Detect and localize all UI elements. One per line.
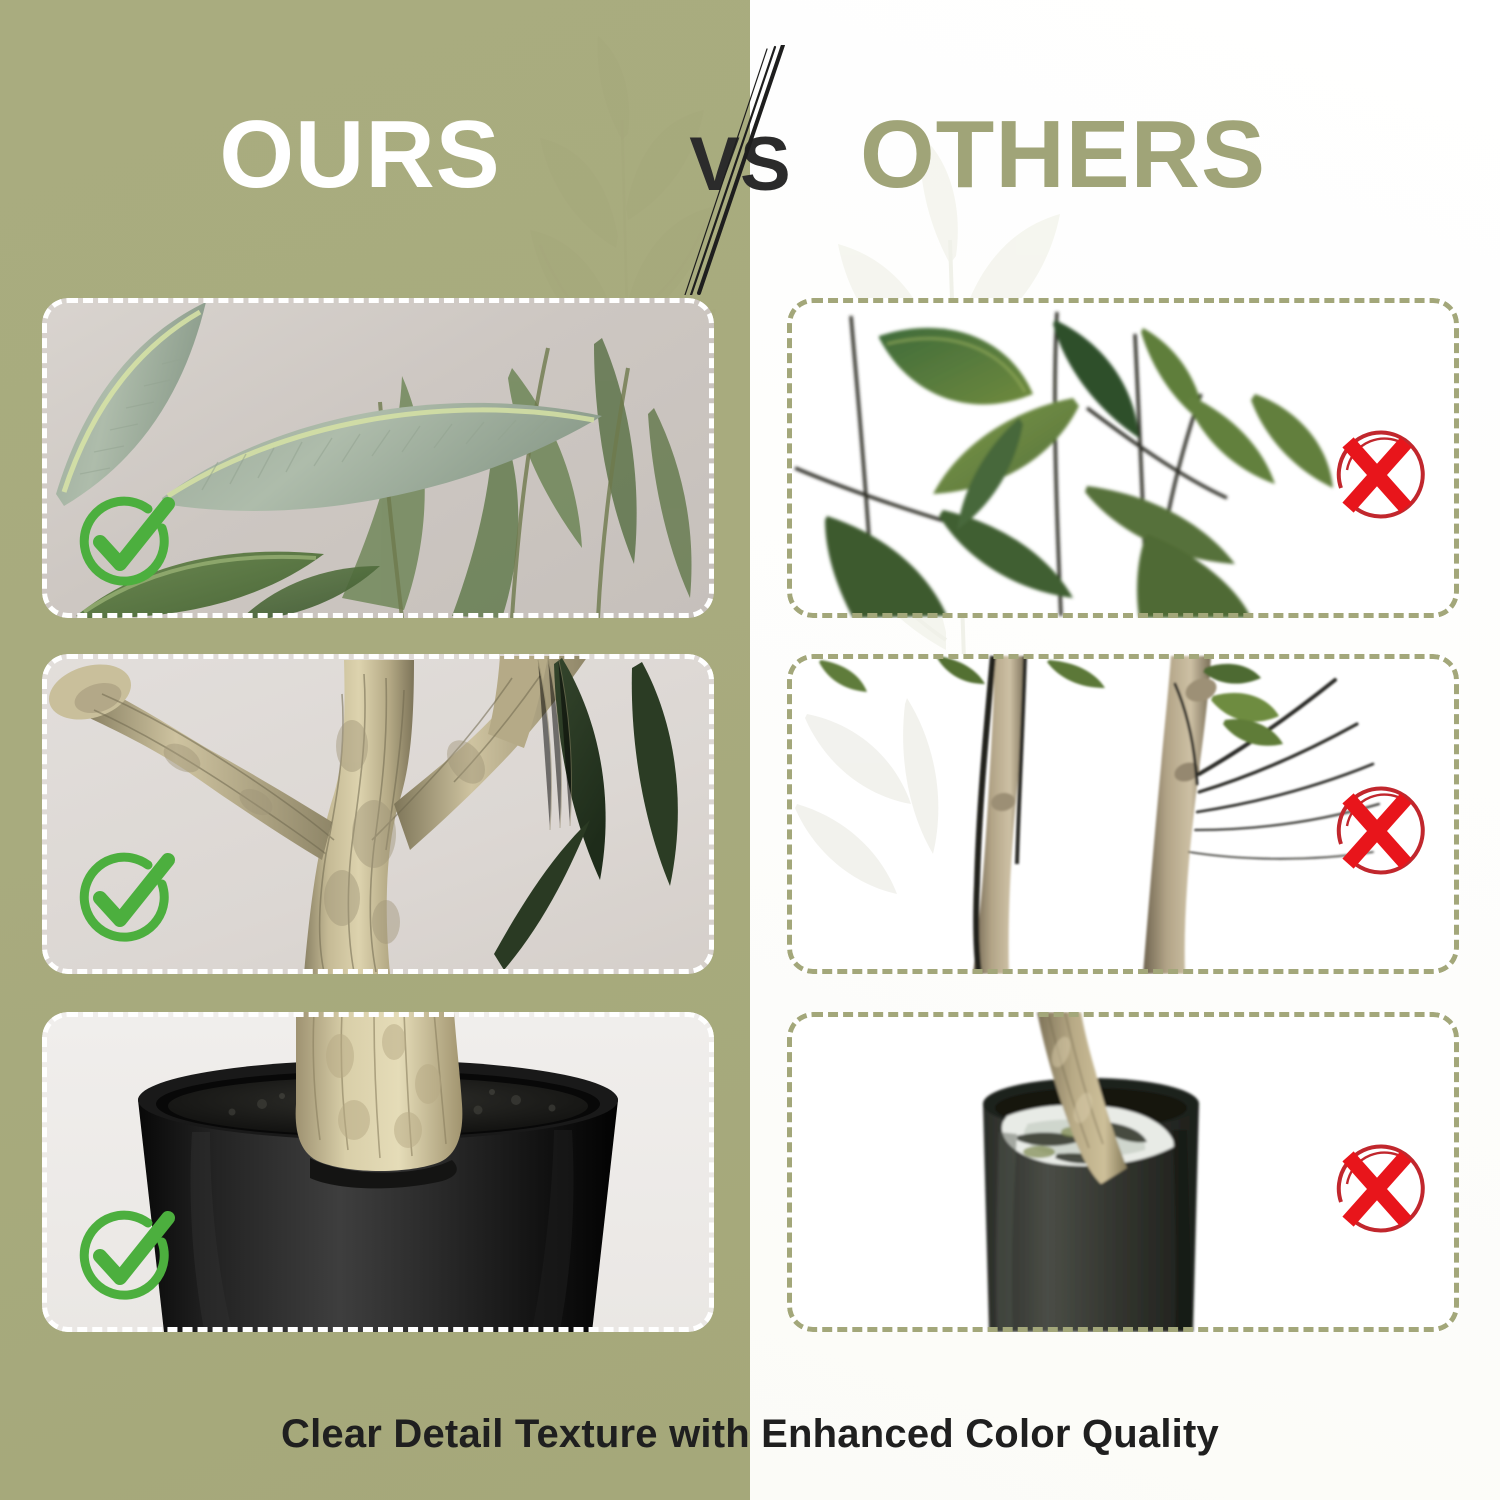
check-circle-icon [70,840,182,952]
comparison-grid [0,0,1500,1500]
card-others-pot-detail [787,1012,1459,1332]
card-ours-trunk-detail [42,654,714,974]
cross-circle-icon [1319,1132,1431,1244]
title-vs: VS [670,115,810,215]
card-others-leaf-detail [787,298,1459,618]
cross-circle-icon [1319,418,1431,530]
card-ours-leaf-detail [42,298,714,618]
caption-text: Clear Detail Texture with Enhanced Color… [0,1412,1500,1457]
comparison-infographic: OURS OTHERS VS [0,0,1500,1500]
card-others-trunk-detail [787,654,1459,974]
card-ours-pot-detail [42,1012,714,1332]
cross-circle-icon [1319,774,1431,886]
check-circle-icon [70,484,182,596]
check-circle-icon [70,1198,182,1310]
